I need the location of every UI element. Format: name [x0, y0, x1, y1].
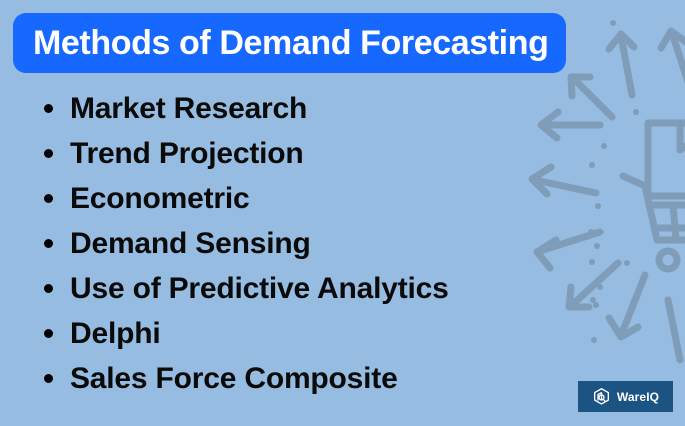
- list-item-label: Econometric: [70, 184, 250, 214]
- list-item-label: Delphi: [70, 319, 160, 349]
- arrow-up-right-icon: [661, 31, 685, 88]
- list-item: Use of Predictive Analytics: [44, 266, 449, 311]
- list-item: Market Research: [44, 86, 449, 131]
- dotted-trail-icon: [596, 23, 636, 305]
- arrow-down-icon: [609, 275, 645, 337]
- list-item-label: Demand Sensing: [70, 229, 311, 259]
- bullet-dot-icon: [44, 374, 53, 383]
- wareiq-logo-badge: WareIQ: [578, 381, 673, 412]
- arrow-up-icon: [609, 34, 634, 95]
- package-box-icon: [648, 123, 685, 196]
- list-item: Trend Projection: [44, 131, 449, 176]
- bullet-dot-icon: [44, 239, 53, 248]
- page-title: Methods of Demand Forecasting: [33, 26, 548, 60]
- arrow-left-upper-icon: [541, 112, 600, 138]
- arrow-down-right-icon: [668, 300, 680, 360]
- list-item: Econometric: [44, 176, 449, 221]
- shopping-cart-icon: [623, 176, 685, 269]
- bullet-dot-icon: [44, 104, 53, 113]
- slide-canvas: Methods of Demand Forecasting Market Res…: [0, 0, 685, 426]
- list-item-label: Use of Predictive Analytics: [70, 274, 449, 304]
- list-item: Demand Sensing: [44, 221, 449, 266]
- arrow-left-lower-icon: [537, 232, 600, 268]
- wareiq-logo-text: WareIQ: [617, 391, 659, 403]
- bullet-dot-icon: [44, 149, 53, 158]
- arrow-down-left-icon: [569, 263, 618, 307]
- list-item: Delphi: [44, 311, 449, 356]
- methods-list: Market Research Trend Projection Econome…: [44, 86, 449, 401]
- arrow-left-middle-icon: [532, 167, 596, 194]
- bullet-dot-icon: [44, 329, 53, 338]
- bullet-dot-icon: [44, 194, 53, 203]
- dotted-trail-left-icon: [590, 125, 600, 340]
- list-item-label: Market Research: [70, 94, 307, 124]
- list-item-label: Trend Projection: [70, 139, 304, 169]
- warehouse-cube-icon: [592, 387, 611, 406]
- bullet-dot-icon: [44, 284, 53, 293]
- arrow-up-left-icon: [571, 77, 612, 117]
- title-banner: Methods of Demand Forecasting: [13, 13, 566, 73]
- list-item: Sales Force Composite: [44, 356, 449, 401]
- list-item-label: Sales Force Composite: [70, 364, 398, 394]
